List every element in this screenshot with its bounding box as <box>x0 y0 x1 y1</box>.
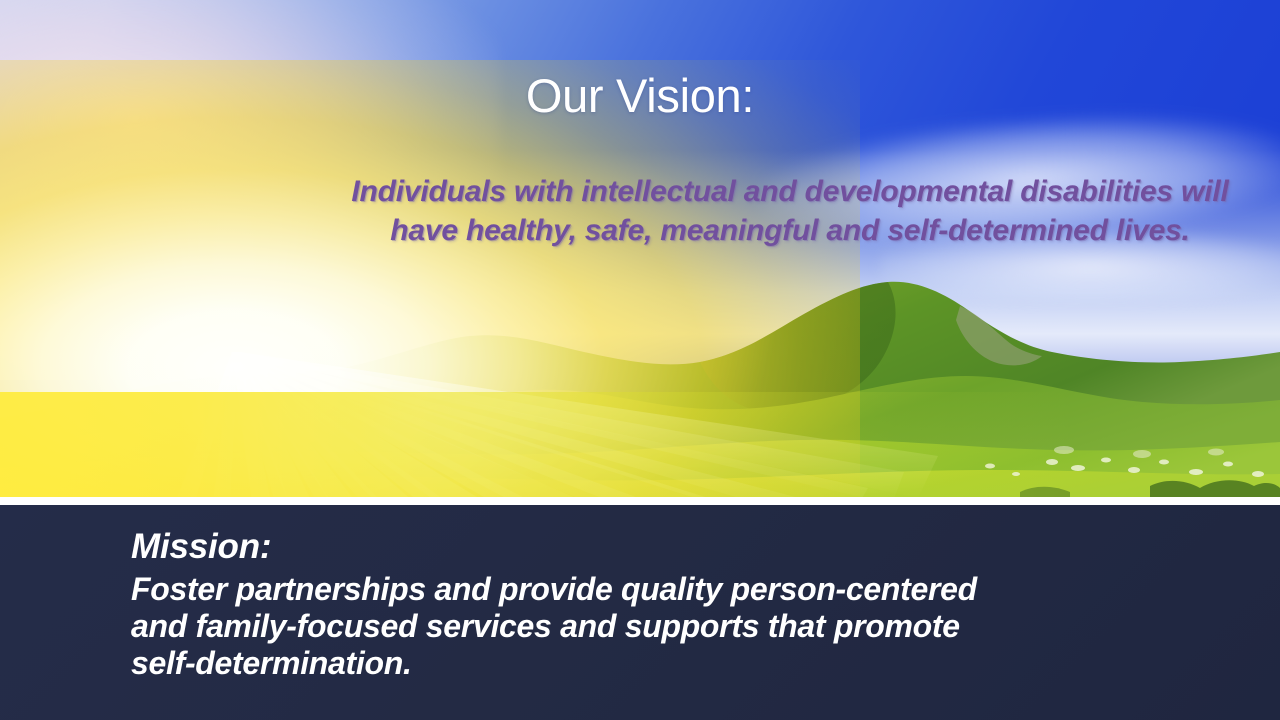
mission-line-3: self-determination. <box>131 645 1191 682</box>
green-hills <box>0 240 1280 497</box>
vision-line-1: Individuals with intellectual and develo… <box>351 175 1012 208</box>
mission-panel: Mission: Foster partnerships and provide… <box>0 505 1280 720</box>
mission-line-1: Foster partnerships and provide quality … <box>131 571 1191 608</box>
vision-statement: Individuals with intellectual and develo… <box>330 172 1250 250</box>
mission-content: Mission: Foster partnerships and provide… <box>131 526 1191 682</box>
vision-line-3: self-determined lives. <box>887 214 1189 247</box>
mission-line-2: and family-focused services and supports… <box>131 608 1191 645</box>
mission-heading: Mission: <box>131 526 1191 568</box>
vision-title: Our Vision: <box>0 68 1280 124</box>
slide-root: Our Vision: Individuals with intellectua… <box>0 0 1280 720</box>
mission-statement: Foster partnerships and provide quality … <box>131 571 1191 682</box>
sunrise-banner-image: Our Vision: Individuals with intellectua… <box>0 0 1280 497</box>
